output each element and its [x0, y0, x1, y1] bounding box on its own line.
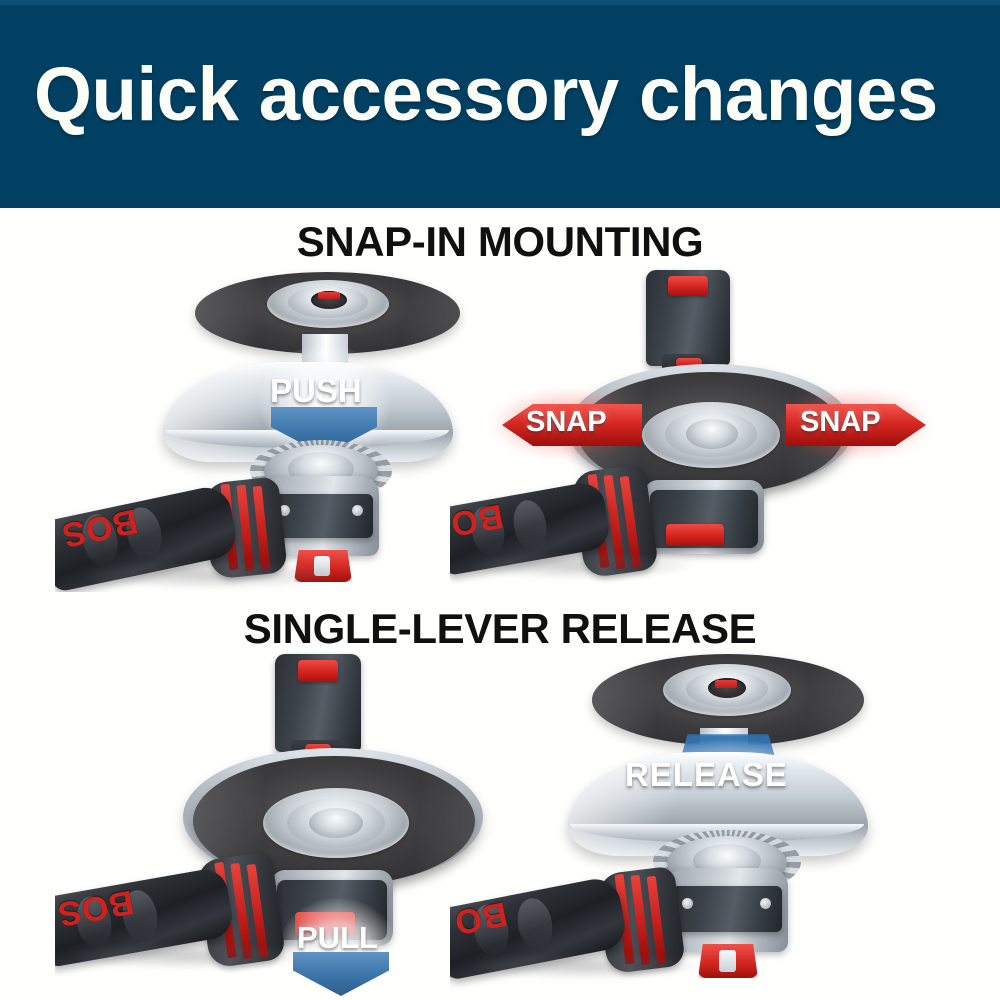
motor-red-tab-top	[668, 276, 708, 296]
panel-release: RELEASE BO	[450, 648, 950, 996]
contact-shadow-snap	[470, 554, 690, 578]
contact-shadow-pull	[73, 944, 303, 968]
pull-arrow-icon	[293, 952, 389, 996]
motor-red-tab-top-pull	[298, 660, 338, 682]
motor-red-tab-bottom	[666, 524, 724, 546]
contact-shadow-release	[472, 954, 696, 978]
disc-bore-marker-released	[715, 680, 737, 688]
section-title-snap-in-mounting: SNAP-IN MOUNTING	[0, 218, 1000, 266]
badge-label-release: RELEASE	[625, 756, 788, 794]
badge-label-pull: PULL	[297, 920, 378, 956]
disc-bore-marker	[318, 292, 340, 299]
badge-label-push: PUSH	[270, 372, 362, 410]
section-title-single-lever-release: SINGLE-LEVER RELEASE	[0, 605, 1000, 653]
page-title: Quick accessory changes	[34, 52, 916, 138]
contact-shadow	[85, 562, 335, 588]
panel-push: PUSH BOS	[55, 262, 475, 592]
housing-screw-left-release	[682, 898, 693, 909]
header-top-strip	[0, 0, 1000, 5]
panel-snap: SNAP SNAP BO	[450, 262, 950, 592]
gear-head-dark-band	[269, 494, 373, 538]
gear-head-dark-release	[672, 886, 782, 932]
header-banner: Quick accessory changes	[0, 0, 1000, 208]
badge-label-snap-right: SNAP	[800, 406, 881, 439]
flange-core-pull	[309, 808, 363, 838]
release-lever-slot-engaged	[719, 950, 736, 972]
badge-label-snap-left: SNAP	[526, 406, 607, 439]
housing-screw-right-release	[760, 898, 771, 909]
housing-screw-right	[352, 505, 363, 516]
infographic-page: Quick accessory changes SNAP-IN MOUNTING…	[0, 0, 1000, 1000]
panel-pull: PULL BOS	[55, 648, 495, 996]
flange-core-seated	[686, 419, 738, 449]
